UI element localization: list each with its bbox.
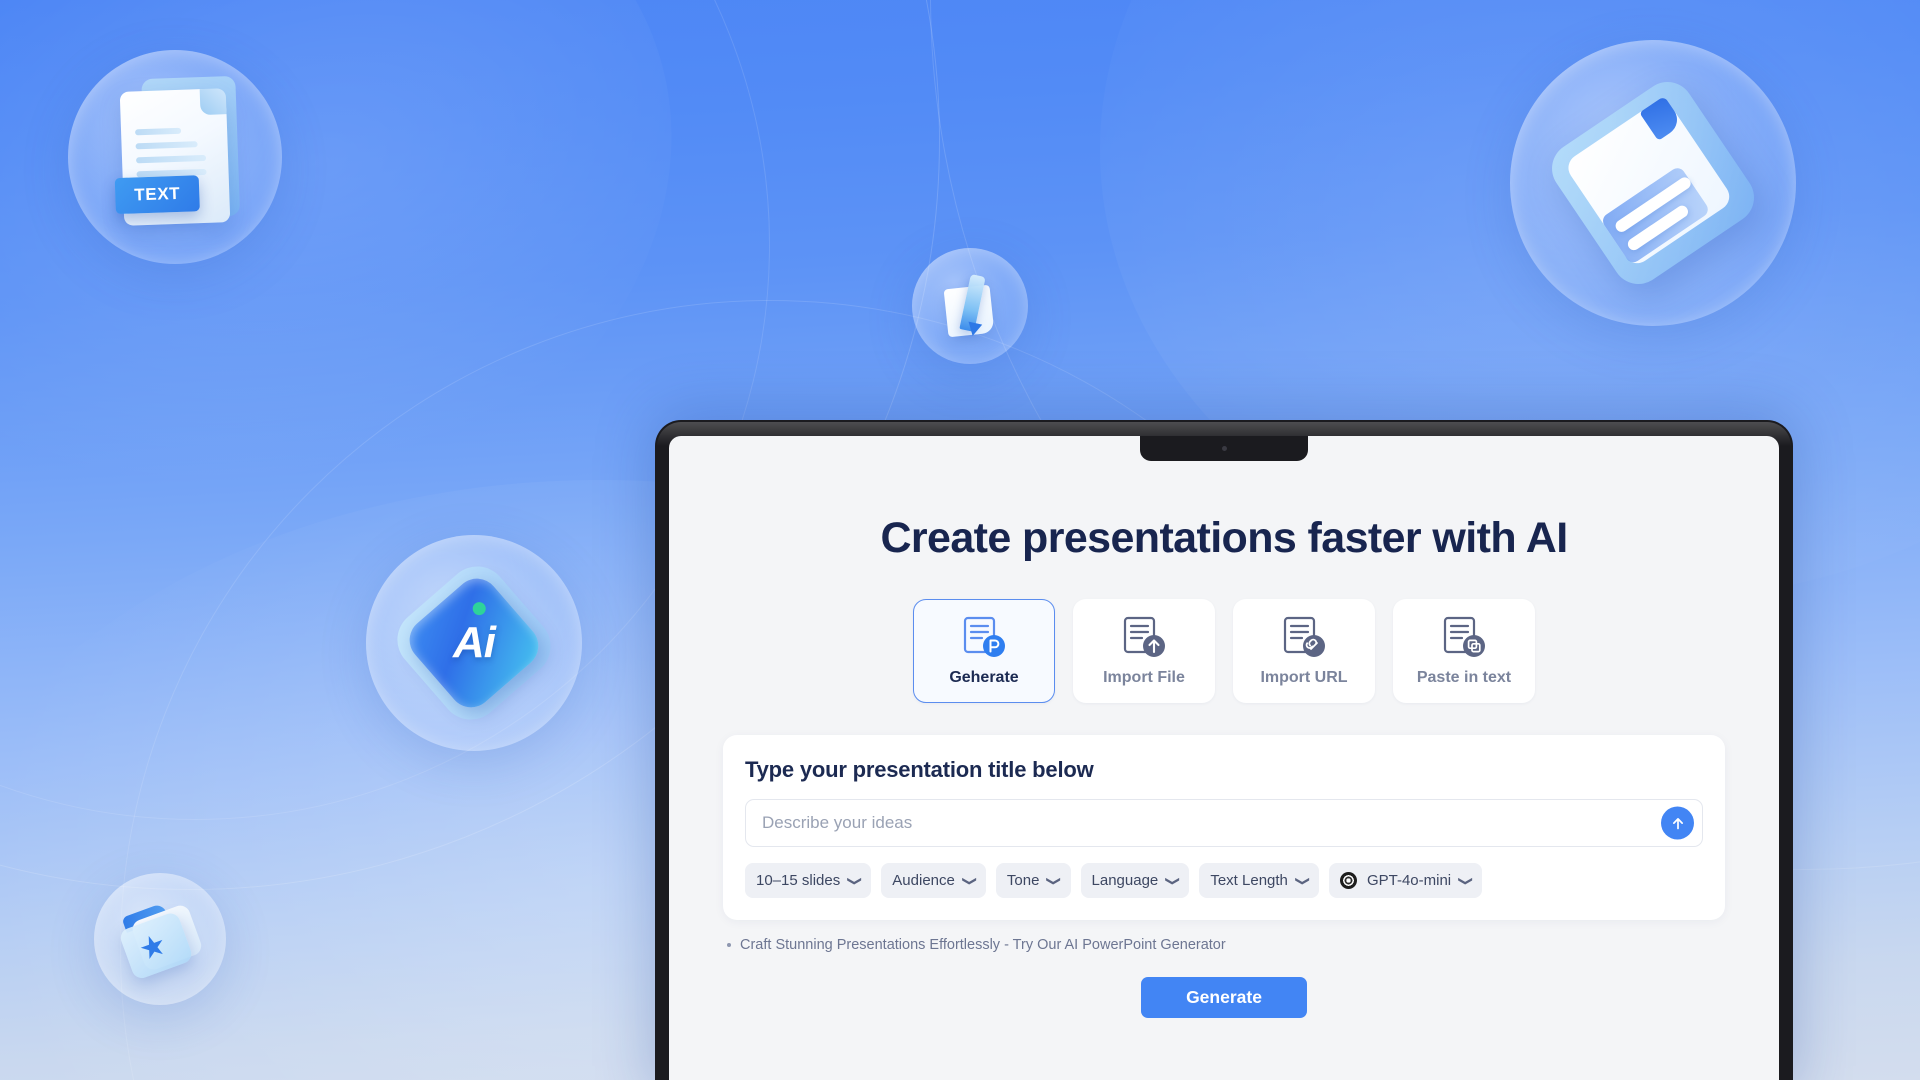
chip-audience-label: Audience [892, 872, 955, 889]
ai-cube-3d-icon: Ai [366, 535, 582, 751]
chip-slide-count[interactable]: 10–15 slides ❯ [745, 863, 871, 898]
tab-import-url[interactable]: Import URL [1233, 599, 1375, 703]
laptop-screen: Create presentations faster with AI [669, 436, 1779, 1080]
text-document-3d-icon: TEXT [68, 50, 282, 264]
bullet-icon [727, 943, 731, 947]
tab-paste-in-text-label: Paste in text [1417, 669, 1511, 687]
doc-upload-icon [1118, 615, 1170, 661]
openai-logo-icon [1340, 872, 1357, 889]
doc-copy-icon [1438, 615, 1490, 661]
page-background: TEXT Ai [0, 0, 1920, 1080]
chevron-down-icon: ❯ [848, 875, 862, 885]
chip-tone-label: Tone [1007, 872, 1040, 889]
ai-accent-dot [473, 602, 486, 615]
document-3d-icon [1510, 40, 1796, 326]
tab-import-url-label: Import URL [1260, 669, 1347, 687]
pencil-note-3d-icon [912, 248, 1028, 364]
pencil-glyph [938, 271, 1002, 341]
tab-paste-in-text[interactable]: Paste in text [1393, 599, 1535, 703]
chevron-down-icon: ❯ [1048, 875, 1062, 885]
chevron-down-icon: ❯ [1459, 875, 1473, 885]
page-title: Create presentations faster with AI [723, 514, 1725, 563]
tab-import-file[interactable]: Import File [1073, 599, 1215, 703]
document-fold [200, 88, 227, 115]
chevron-down-icon: ❯ [1296, 875, 1310, 885]
chip-slide-count-label: 10–15 slides [756, 872, 840, 889]
submit-prompt-button[interactable] [1661, 807, 1694, 840]
star-folder-3d-icon: ★ [94, 873, 226, 1005]
tab-generate[interactable]: Geherate [913, 599, 1055, 703]
chip-text-length-label: Text Length [1210, 872, 1288, 889]
tab-generate-label: Geherate [949, 669, 1018, 687]
ai-cube-glyph: Ai [385, 554, 563, 732]
option-chips: 10–15 slides ❯ Audience ❯ Tone ❯ Langu [745, 863, 1703, 898]
document-glyph [1542, 72, 1764, 294]
camera-icon [1222, 446, 1227, 451]
mode-tabs: Geherate [723, 599, 1725, 703]
text-badge: TEXT [115, 175, 200, 214]
tagline-text: Craft Stunning Presentations Effortlessl… [740, 937, 1226, 953]
laptop-camera-notch [1140, 436, 1308, 461]
folder-glyph: ★ [114, 895, 206, 982]
chip-language[interactable]: Language ❯ [1081, 863, 1190, 898]
laptop-mockup: Create presentations faster with AI [655, 420, 1793, 1080]
prompt-input-row [745, 799, 1703, 847]
card-title: Type your presentation title below [745, 757, 1703, 783]
app-content: Create presentations faster with AI [669, 436, 1779, 1018]
prompt-card: Type your presentation title below 10–15… [723, 735, 1725, 920]
generate-button-wrap: Generate [723, 977, 1725, 1018]
generate-button[interactable]: Generate [1141, 977, 1307, 1018]
doc-link-icon [1278, 615, 1330, 661]
chip-model-label: GPT-4o-mini [1367, 872, 1451, 889]
chip-tone[interactable]: Tone ❯ [996, 863, 1071, 898]
chip-audience[interactable]: Audience ❯ [881, 863, 986, 898]
arrow-up-icon [1669, 814, 1687, 832]
prompt-input[interactable] [745, 799, 1703, 847]
chevron-down-icon: ❯ [1166, 875, 1180, 885]
pen-tip [966, 322, 982, 338]
chip-language-label: Language [1092, 872, 1159, 889]
chip-model[interactable]: GPT-4o-mini ❯ [1329, 863, 1482, 898]
tagline: Craft Stunning Presentations Effortlessl… [723, 937, 1725, 953]
doc-powerpoint-icon [958, 615, 1010, 661]
chip-text-length[interactable]: Text Length ❯ [1199, 863, 1319, 898]
chevron-down-icon: ❯ [963, 875, 977, 885]
tab-import-file-label: Import File [1103, 669, 1185, 687]
text-document-glyph: TEXT [120, 88, 231, 226]
